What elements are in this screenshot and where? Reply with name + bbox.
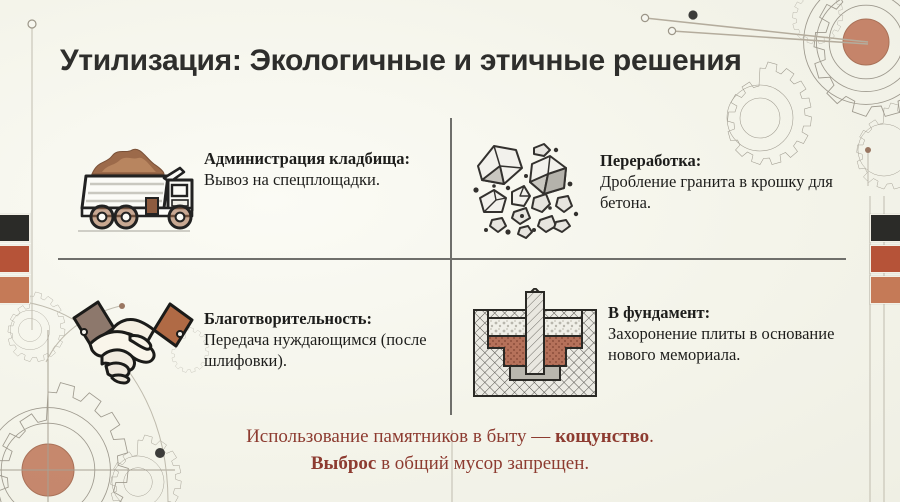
footer-line2-suffix: в общий мусор запрещен. [376, 453, 589, 474]
slide-canvas: Утилизация: Экологичные и этичные решени… [0, 0, 900, 502]
item-administration-heading: Администрация кладбища: [204, 149, 410, 168]
item-administration-body: Вывоз на спецплощадки. [204, 170, 380, 189]
swatch-rust [0, 245, 30, 273]
item-charity: Благотворительность: Передача нуждающимс… [68, 288, 440, 388]
footer-line1-bold: кощунство [555, 426, 649, 447]
item-recycling-heading: Переработка: [600, 151, 701, 170]
crushed-granite-rocks-icon [470, 138, 588, 242]
item-charity-body: Передача нуждающимся (после шлифовки). [204, 330, 427, 370]
footer-line1-suffix: . [649, 426, 654, 447]
swatch-rust [870, 245, 900, 273]
item-foundation-body: Захоронение плиты в основание нового мем… [608, 324, 834, 364]
horizontal-divider [58, 258, 846, 260]
footer-line-1: Использование памятников в быту — кощунс… [0, 424, 900, 451]
swatch-clay [0, 276, 30, 304]
item-recycling: Переработка: Дробление гранита в крошку … [470, 138, 850, 242]
item-administration-text: Администрация кладбища: Вывоз на спецпло… [204, 138, 430, 190]
swatch-clay [870, 276, 900, 304]
swatch-dark [870, 214, 900, 242]
footer-line-2: Выброс в общий мусор запрещен. [0, 451, 900, 478]
item-foundation-heading: В фундамент: [608, 303, 710, 322]
item-charity-text: Благотворительность: Передача нуждающимс… [204, 288, 436, 371]
item-foundation-text: В фундамент: Захоронение плиты в основан… [608, 288, 844, 365]
footer-line2-bold: Выброс [311, 453, 377, 474]
item-recycling-text: Переработка: Дробление гранита в крошку … [600, 138, 844, 213]
item-foundation: В фундамент: Захоронение плиты в основан… [470, 288, 850, 400]
slide-title: Утилизация: Экологичные и этичные решени… [60, 44, 742, 78]
footer-warning: Использование памятников в быту — кощунс… [0, 424, 900, 478]
handshake-icon [68, 288, 198, 388]
footer-line1-prefix: Использование памятников в быту — [246, 426, 555, 447]
item-charity-heading: Благотворительность: [204, 309, 372, 328]
swatch-dark [0, 214, 30, 242]
foundation-cross-section-icon [470, 288, 600, 400]
palette-swatches-left [0, 214, 30, 304]
palette-swatches-right [870, 214, 900, 304]
vertical-divider [450, 118, 452, 415]
dump-truck-icon [68, 138, 196, 234]
item-administration: Администрация кладбища: Вывоз на спецпло… [68, 138, 440, 234]
item-recycling-body: Дробление гранита в крошку для бетона. [600, 172, 833, 212]
